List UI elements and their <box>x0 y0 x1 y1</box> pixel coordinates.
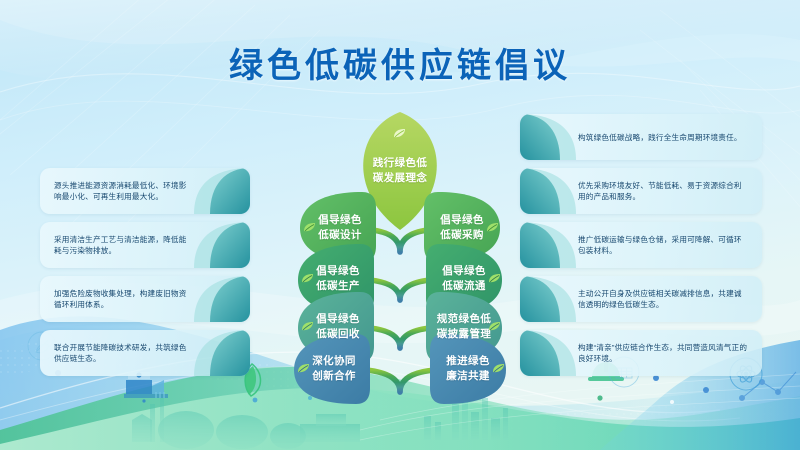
leaf-icon <box>486 222 499 233</box>
leaf-icon <box>488 273 501 284</box>
tree-node-r4-right-label: 推进绿色 廉洁共建 <box>446 354 490 384</box>
leaf-icon <box>301 321 314 332</box>
tree-node-r3-left-label: 倡导绿色 低碳回收 <box>316 312 360 342</box>
leaf-icon <box>303 222 316 233</box>
tree-node-r1-right-label: 倡导绿色 低碳采购 <box>440 213 484 243</box>
tree-node-r4-left-label: 深化协同 创新合作 <box>312 354 356 384</box>
tree-node-top-label: 践行绿色低 碳发展理念 <box>373 156 428 186</box>
tree-node-r2-left-label: 倡导绿色 低碳生产 <box>316 264 360 294</box>
leaf-icon <box>301 273 314 284</box>
tree-node-r3-right-label: 规范绿色低 碳披露管理 <box>437 312 492 342</box>
tree-node-r1-left-label: 倡导绿色 低碳设计 <box>318 213 362 243</box>
tree-node-r2-right-label: 倡导绿色 低碳流通 <box>442 264 486 294</box>
leaf-icon <box>297 363 310 374</box>
infographic-poster: 绿色低碳供应链倡议 源头推进能源资源消耗最低化、环境影响最小化、可再生利用最大化… <box>0 0 800 450</box>
leaf-icon <box>393 128 406 139</box>
tree-node-r4-right[interactable]: 推进绿色 廉洁共建 <box>422 335 514 403</box>
leaf-icon <box>488 321 501 332</box>
tree-node-r4-left[interactable]: 深化协同 创新合作 <box>288 335 380 403</box>
leaf-icon <box>492 363 505 374</box>
